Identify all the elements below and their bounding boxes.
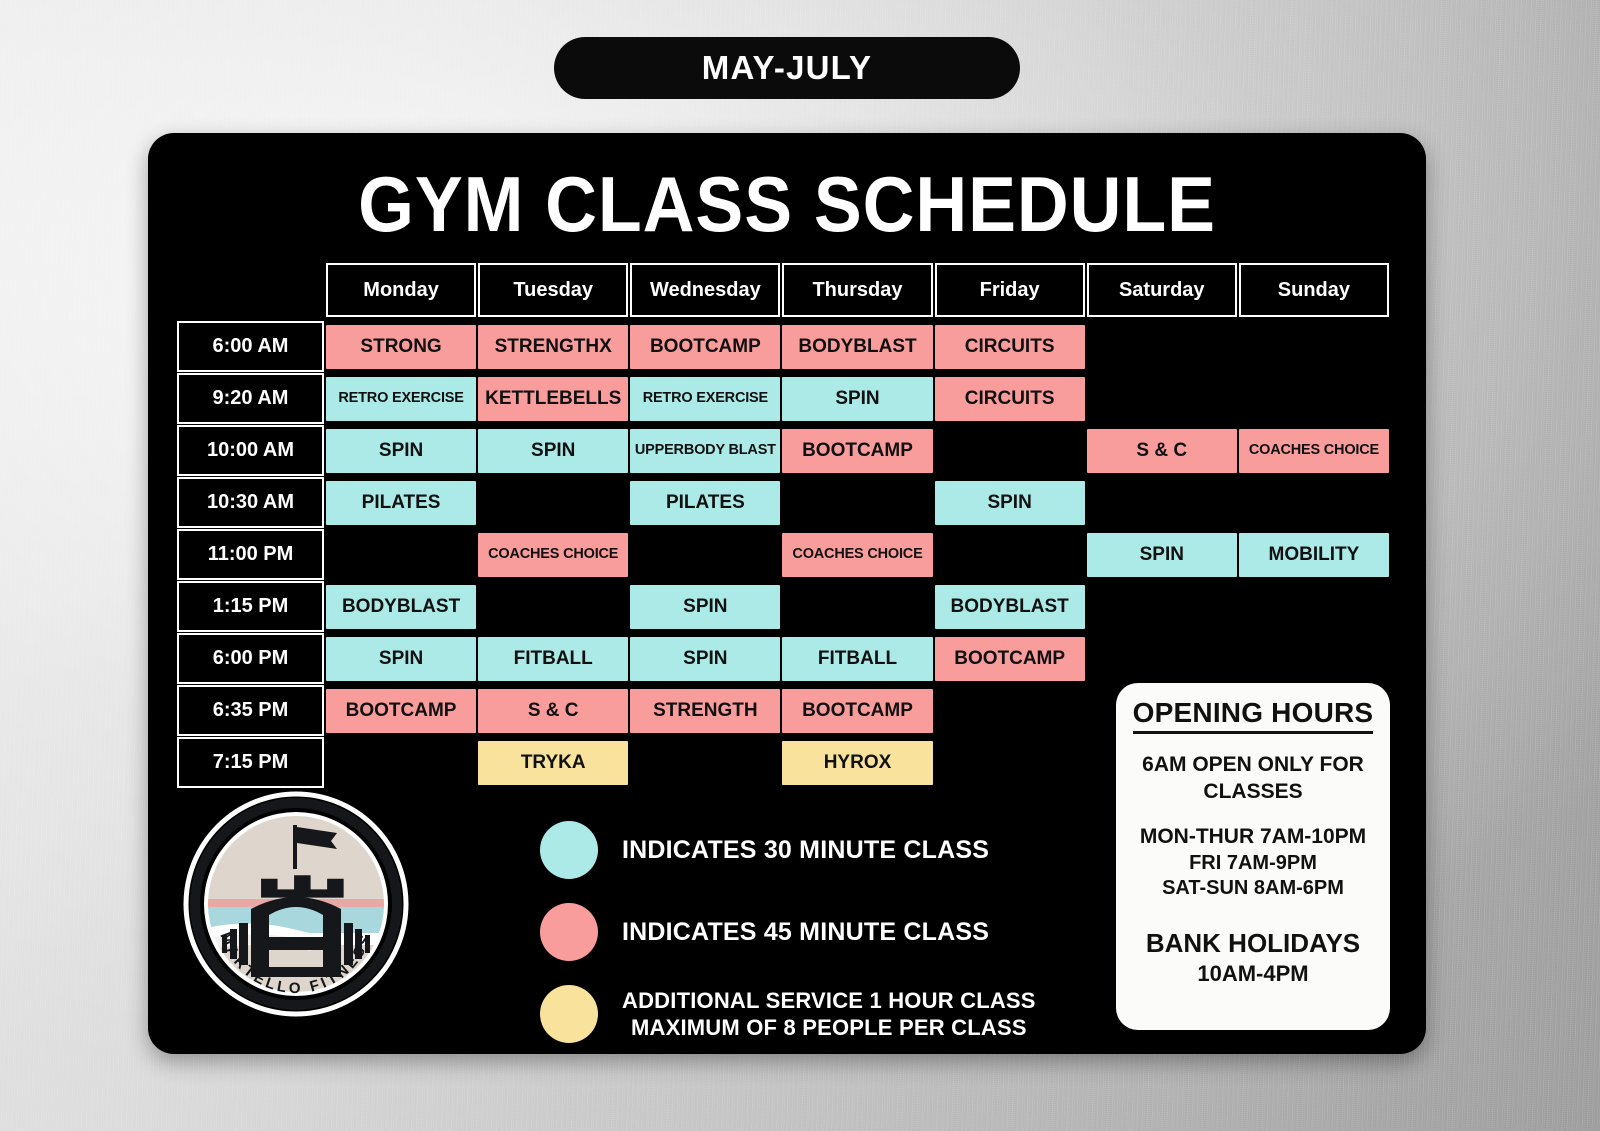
class-cell[interactable]: RETRO EXERCISE bbox=[326, 377, 476, 421]
class-cell-empty bbox=[1087, 481, 1237, 525]
schedule-row: 6:00 PMSPINFITBALLSPINFITBALLBOOTCAMP bbox=[177, 633, 1389, 684]
class-cell[interactable]: SPIN bbox=[478, 429, 628, 473]
legend-label-line1: ADDITIONAL SERVICE 1 HOUR CLASS bbox=[622, 987, 1036, 1015]
class-cell[interactable]: PILATES bbox=[630, 481, 780, 525]
time-cell: 10:30 AM bbox=[177, 477, 324, 528]
class-cell[interactable]: COACHES CHOICE bbox=[1239, 429, 1389, 473]
martello-fitness-logo: MARTELLO FITNESS bbox=[181, 789, 411, 1019]
legend-dot-blue bbox=[540, 821, 598, 879]
day-header-saturday: Saturday bbox=[1087, 263, 1237, 317]
class-cell[interactable]: COACHES CHOICE bbox=[782, 533, 932, 577]
time-cell: 10:00 AM bbox=[177, 425, 324, 476]
class-cell[interactable]: S & C bbox=[478, 689, 628, 733]
opening-hours-note: 6AM OPEN ONLY FOR CLASSES bbox=[1128, 752, 1378, 806]
bank-holidays-hours: 10AM-4PM bbox=[1128, 961, 1378, 987]
class-cell[interactable]: SPIN bbox=[935, 481, 1085, 525]
class-cell-empty bbox=[935, 429, 1085, 473]
class-cell-empty bbox=[1087, 325, 1237, 369]
legend-label: INDICATES 30 MINUTE CLASS bbox=[622, 836, 989, 865]
class-cell[interactable]: FITBALL bbox=[478, 637, 628, 681]
schedule-row: 10:00 AMSPINSPINUPPERBODY BLASTBOOTCAMPS… bbox=[177, 425, 1389, 476]
class-cell[interactable]: SPIN bbox=[630, 585, 780, 629]
time-cell: 11:00 PM bbox=[177, 529, 324, 580]
bank-holidays-title: BANK HOLIDAYS bbox=[1128, 928, 1378, 959]
time-column-header bbox=[177, 263, 324, 317]
class-cell-empty bbox=[1239, 585, 1389, 629]
legend-label-line2: MAXIMUM OF 8 PEOPLE PER CLASS bbox=[622, 1014, 1036, 1042]
class-cell-empty bbox=[478, 585, 628, 629]
opening-hours-weekly: MON-THUR 7AM-10PM FRI 7AM-9PM SAT-SUN 8A… bbox=[1128, 824, 1378, 902]
class-cell-empty bbox=[782, 585, 932, 629]
class-cell[interactable]: COACHES CHOICE bbox=[478, 533, 628, 577]
schedule-row: 10:30 AMPILATESPILATESSPIN bbox=[177, 477, 1389, 528]
time-cell: 6:00 PM bbox=[177, 633, 324, 684]
class-cell[interactable]: SPIN bbox=[326, 637, 476, 681]
class-cell[interactable]: RETRO EXERCISE bbox=[630, 377, 780, 421]
opening-hours-sat-sun: SAT-SUN 8AM-6PM bbox=[1128, 876, 1378, 902]
class-cell-empty bbox=[630, 741, 780, 785]
schedule-card: GYM CLASS SCHEDULE MondayTuesdayWednesda… bbox=[148, 133, 1426, 1054]
schedule-row: 9:20 AMRETRO EXERCISEKETTLEBELLSRETRO EX… bbox=[177, 373, 1389, 424]
class-cell[interactable]: FITBALL bbox=[782, 637, 932, 681]
class-cell-empty bbox=[1239, 325, 1389, 369]
legend-label: ADDITIONAL SERVICE 1 HOUR CLASSMAXIMUM O… bbox=[622, 987, 1036, 1042]
day-header-friday: Friday bbox=[935, 263, 1085, 317]
legend-label-line1: INDICATES 30 MINUTE CLASS bbox=[622, 836, 989, 865]
class-cell[interactable]: PILATES bbox=[326, 481, 476, 525]
period-label: MAY-JULY bbox=[702, 49, 872, 87]
page-title: GYM CLASS SCHEDULE bbox=[199, 159, 1375, 250]
class-cell[interactable]: STRENGTH bbox=[630, 689, 780, 733]
opening-hours-note-line1: 6AM OPEN ONLY FOR bbox=[1128, 752, 1378, 779]
class-cell[interactable]: KETTLEBELLS bbox=[478, 377, 628, 421]
class-cell[interactable]: SPIN bbox=[782, 377, 932, 421]
class-cell[interactable]: BOOTCAMP bbox=[782, 689, 932, 733]
schedule-header-row: MondayTuesdayWednesdayThursdayFridaySatu… bbox=[177, 263, 1389, 317]
class-cell[interactable]: HYROX bbox=[782, 741, 932, 785]
class-cell[interactable]: SPIN bbox=[630, 637, 780, 681]
time-cell: 6:00 AM bbox=[177, 321, 324, 372]
class-cell-empty bbox=[478, 481, 628, 525]
class-cell[interactable]: BODYBLAST bbox=[326, 585, 476, 629]
class-cell-empty bbox=[326, 741, 476, 785]
class-cell[interactable]: S & C bbox=[1087, 429, 1237, 473]
opening-hours-fri: FRI 7AM-9PM bbox=[1128, 851, 1378, 877]
day-header-tuesday: Tuesday bbox=[478, 263, 628, 317]
day-header-thursday: Thursday bbox=[782, 263, 932, 317]
time-cell: 9:20 AM bbox=[177, 373, 324, 424]
legend-label-line1: INDICATES 45 MINUTE CLASS bbox=[622, 918, 989, 947]
opening-hours-title: OPENING HOURS bbox=[1133, 697, 1374, 734]
class-cell[interactable]: BOOTCAMP bbox=[326, 689, 476, 733]
legend-dot-pink bbox=[540, 903, 598, 961]
class-cell-empty bbox=[935, 741, 1085, 785]
opening-hours-mon-thur: MON-THUR 7AM-10PM bbox=[1128, 824, 1378, 851]
class-cell[interactable]: UPPERBODY BLAST bbox=[630, 429, 780, 473]
class-cell-empty bbox=[1087, 637, 1237, 681]
day-header-sunday: Sunday bbox=[1239, 263, 1389, 317]
class-cell-empty bbox=[1239, 637, 1389, 681]
class-cell[interactable]: CIRCUITS bbox=[935, 325, 1085, 369]
class-cell[interactable]: BOOTCAMP bbox=[782, 429, 932, 473]
class-cell[interactable]: STRONG bbox=[326, 325, 476, 369]
class-cell[interactable]: BODYBLAST bbox=[935, 585, 1085, 629]
class-cell[interactable]: BODYBLAST bbox=[782, 325, 932, 369]
class-cell[interactable]: SPIN bbox=[1087, 533, 1237, 577]
legend: INDICATES 30 MINUTE CLASSINDICATES 45 MI… bbox=[540, 821, 1140, 1067]
class-cell-empty bbox=[935, 533, 1085, 577]
legend-row: INDICATES 45 MINUTE CLASS bbox=[540, 903, 1140, 961]
class-cell-empty bbox=[1087, 585, 1237, 629]
opening-hours-note-line2: CLASSES bbox=[1128, 779, 1378, 806]
schedule-row: 1:15 PMBODYBLASTSPINBODYBLAST bbox=[177, 581, 1389, 632]
day-header-wednesday: Wednesday bbox=[630, 263, 780, 317]
legend-label: INDICATES 45 MINUTE CLASS bbox=[622, 918, 989, 947]
class-cell[interactable]: BOOTCAMP bbox=[630, 325, 780, 369]
legend-row: ADDITIONAL SERVICE 1 HOUR CLASSMAXIMUM O… bbox=[540, 985, 1140, 1043]
time-cell: 1:15 PM bbox=[177, 581, 324, 632]
time-cell: 7:15 PM bbox=[177, 737, 324, 788]
class-cell[interactable]: CIRCUITS bbox=[935, 377, 1085, 421]
time-cell: 6:35 PM bbox=[177, 685, 324, 736]
class-cell[interactable]: SPIN bbox=[326, 429, 476, 473]
legend-row: INDICATES 30 MINUTE CLASS bbox=[540, 821, 1140, 879]
class-cell-empty bbox=[1087, 377, 1237, 421]
class-cell[interactable]: BOOTCAMP bbox=[935, 637, 1085, 681]
schedule-row: 11:00 PMCOACHES CHOICECOACHES CHOICESPIN… bbox=[177, 529, 1389, 580]
class-cell-empty bbox=[326, 533, 476, 577]
opening-hours-box: OPENING HOURS 6AM OPEN ONLY FOR CLASSES … bbox=[1116, 683, 1390, 1030]
class-cell[interactable]: MOBILITY bbox=[1239, 533, 1389, 577]
class-cell-empty bbox=[1239, 377, 1389, 421]
class-cell-empty bbox=[630, 533, 780, 577]
legend-dot-yellow bbox=[540, 985, 598, 1043]
period-badge: MAY-JULY bbox=[554, 37, 1020, 99]
class-cell[interactable]: TRYKA bbox=[478, 741, 628, 785]
class-cell-empty bbox=[782, 481, 932, 525]
class-cell-empty bbox=[935, 689, 1085, 733]
schedule-row: 6:00 AMSTRONGSTRENGTHXBOOTCAMPBODYBLASTC… bbox=[177, 321, 1389, 372]
class-cell-empty bbox=[1239, 481, 1389, 525]
class-cell[interactable]: STRENGTHX bbox=[478, 325, 628, 369]
day-header-monday: Monday bbox=[326, 263, 476, 317]
